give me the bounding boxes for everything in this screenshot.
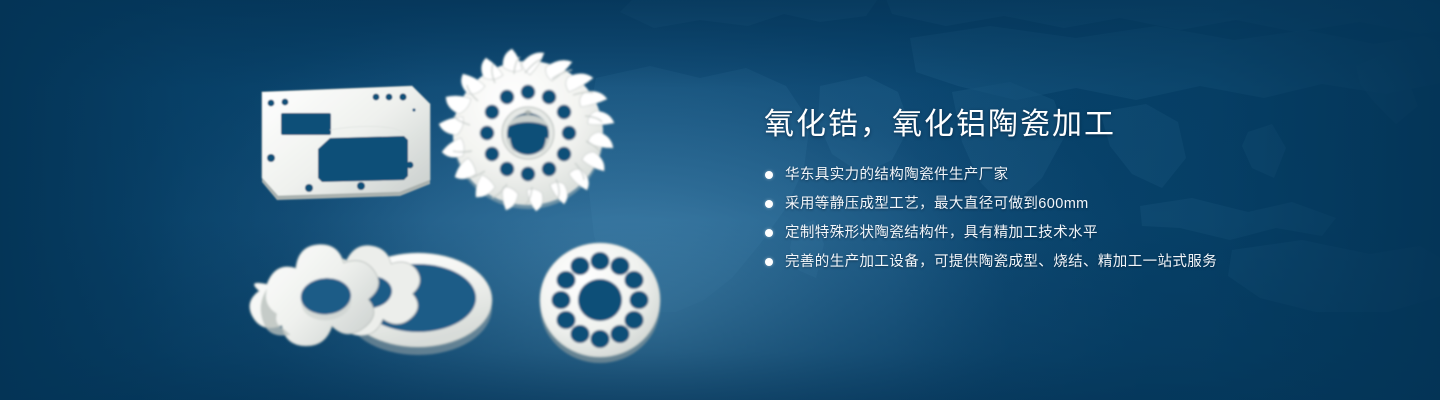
list-item-label: 定制特殊形状陶瓷结构件，具有精加工技术水平 (785, 225, 1098, 241)
bullet-dot-icon (765, 200, 773, 208)
bullet-dot-icon (765, 171, 773, 179)
list-item: 华东具实力的结构陶瓷件生产厂家 (764, 167, 1384, 183)
list-item: 采用等静压成型工艺，最大直径可做到600mm (764, 196, 1384, 212)
ceramic-cross-parts (246, 240, 492, 355)
list-item-label: 完善的生产加工设备，可提供陶瓷成型、烧结、精加工一站式服务 (785, 254, 1217, 270)
bullet-dot-icon (765, 229, 773, 237)
ceramic-hole-disc (540, 243, 660, 363)
ceramic-processing-banner: 氧化锆，氧化铝陶瓷加工 华东具实力的结构陶瓷件生产厂家 采用等静压成型工艺，最大… (0, 0, 1440, 400)
ceramic-impeller (439, 49, 614, 211)
ceramic-flat-plate (262, 86, 430, 200)
ceramic-products-image (0, 0, 720, 400)
list-item: 定制特殊形状陶瓷结构件，具有精加工技术水平 (764, 225, 1384, 241)
bullet-dot-icon (765, 258, 773, 266)
feature-list: 华东具实力的结构陶瓷件生产厂家 采用等静压成型工艺，最大直径可做到600mm 定… (764, 167, 1384, 270)
page-title: 氧化锆，氧化铝陶瓷加工 (764, 105, 1384, 145)
list-item: 完善的生产加工设备，可提供陶瓷成型、烧结、精加工一站式服务 (764, 254, 1384, 270)
list-item-label: 采用等静压成型工艺，最大直径可做到600mm (785, 196, 1089, 212)
list-item-label: 华东具实力的结构陶瓷件生产厂家 (785, 167, 1009, 183)
banner-text-block: 氧化锆，氧化铝陶瓷加工 华东具实力的结构陶瓷件生产厂家 采用等静压成型工艺，最大… (764, 105, 1384, 270)
